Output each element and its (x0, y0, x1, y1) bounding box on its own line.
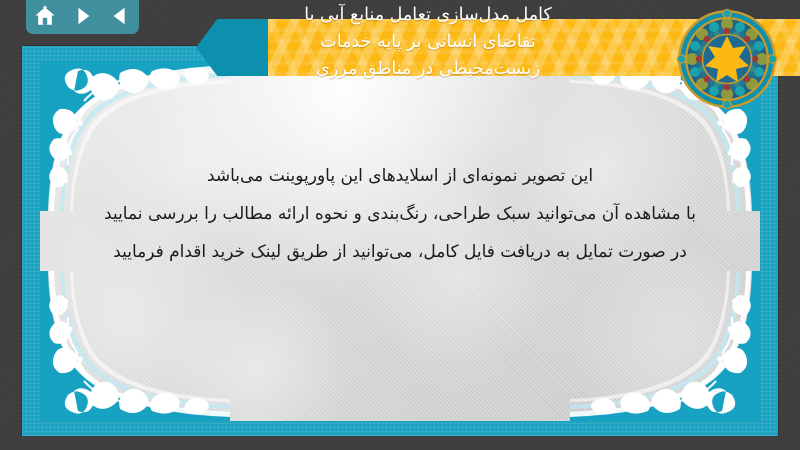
title-line-3: زیست‌محیطی در مناطق مرزی (218, 56, 638, 83)
slide-panel: این تصویر نمونه‌ای از اسلایدهای این پاور… (22, 46, 778, 436)
slide-canvas: این تصویر نمونه‌ای از اسلایدهای این پاور… (40, 61, 760, 421)
window-bottom-strip (0, 436, 800, 450)
title-line-1: کامل مدل‌سازی تعامل منابع آبی با (218, 2, 638, 29)
body-line-3: در صورت تمایل به دریافت فایل کامل، می‌تو… (40, 233, 760, 271)
page-title: کامل مدل‌سازی تعامل منابع آبی با تقاضای … (218, 2, 638, 83)
persian-medallion-ornament (676, 8, 778, 110)
arabesque-corner-ornament (570, 271, 760, 421)
arabesque-corner-ornament (40, 271, 230, 421)
body-line-1: این تصویر نمونه‌ای از اسلایدهای این پاور… (40, 157, 760, 195)
back-arrow-icon[interactable] (107, 3, 134, 29)
home-icon[interactable] (31, 3, 58, 29)
navigation-bar (26, 0, 139, 34)
body-line-2: با مشاهده آن می‌توانید سبک طراحی، رنگ‌بن… (40, 195, 760, 233)
slide-preview-window: این تصویر نمونه‌ای از اسلایدهای این پاور… (0, 0, 800, 450)
forward-arrow-icon[interactable] (69, 3, 96, 29)
title-line-2: تقاضای انسانی بر پایه خدمات (218, 29, 638, 56)
slide-body-text: این تصویر نمونه‌ای از اسلایدهای این پاور… (40, 157, 760, 271)
